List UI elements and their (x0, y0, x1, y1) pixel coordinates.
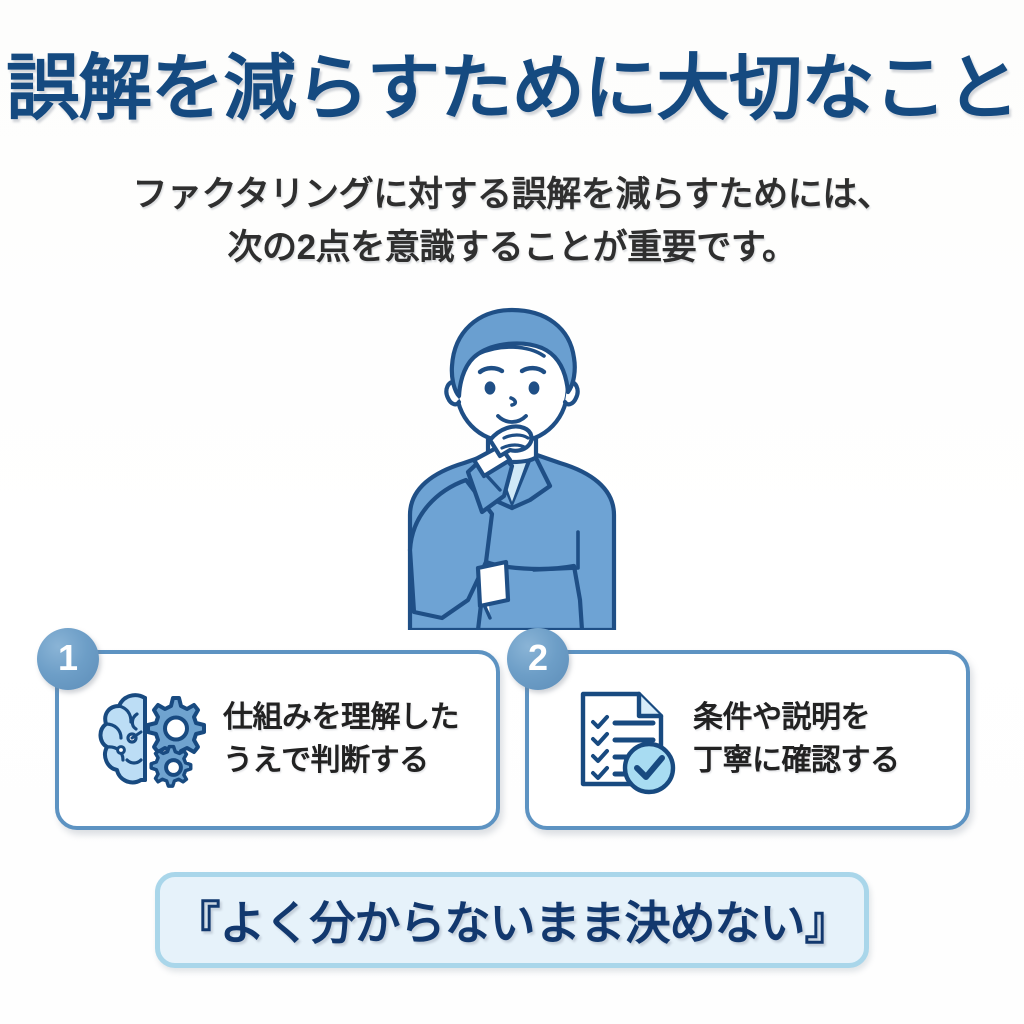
card-point-1[interactable]: 1 (55, 650, 500, 830)
banner-text: 『よく分からないまま決めない』 (175, 887, 850, 953)
subtitle-line-2: 次の2点を意識することが重要です。 (0, 221, 1024, 274)
point-cards: 1 (55, 650, 970, 830)
page-title: 誤解を減らすために大切なこと (6, 52, 1018, 127)
checklist-document-icon (567, 684, 679, 796)
badge-number-1: 1 (37, 628, 99, 690)
card-2-line-2: 丁寧に確認する (693, 740, 900, 783)
card-1-line-1: 仕組みを理解した (223, 697, 459, 740)
card-2-line-1: 条件や説明を (693, 697, 900, 740)
card-2-text: 条件や説明を 丁寧に確認する (693, 697, 900, 782)
badge-number-2: 2 (507, 628, 569, 690)
brain-gears-icon (97, 684, 209, 796)
title-container: 誤解を減らすために大切なこと (0, 52, 1024, 127)
conclusion-banner: 『よく分からないまま決めない』 (155, 872, 869, 968)
card-point-2[interactable]: 2 (525, 650, 970, 830)
subtitle-container: ファクタリングに対する誤解を減らすためには、 次の2点を意識することが重要です。 (0, 168, 1024, 274)
infographic-poster: 誤解を減らすために大切なこと ファクタリングに対する誤解を減らすためには、 次の… (0, 0, 1024, 1024)
subtitle-line-1: ファクタリングに対する誤解を減らすためには、 (0, 168, 1024, 221)
card-1-text: 仕組みを理解した うえで判断する (223, 697, 459, 782)
card-1-line-2: うえで判断する (223, 740, 459, 783)
thinking-businessman-illustration (382, 300, 642, 630)
